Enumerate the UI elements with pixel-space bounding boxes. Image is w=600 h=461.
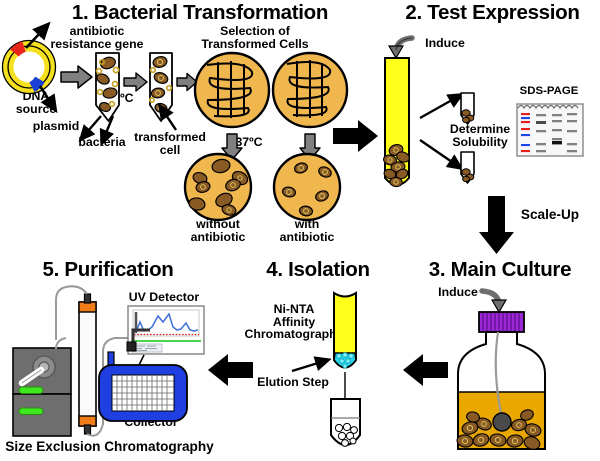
arrow-to-test-expression	[333, 120, 378, 152]
workflow-graphics	[0, 0, 600, 461]
tube-transformed-cells	[150, 53, 176, 130]
sds-page-gel	[517, 104, 583, 156]
streak-plate-right	[273, 53, 347, 127]
test-culture-tube	[383, 58, 411, 187]
ni-nta-column	[292, 293, 356, 398]
arrow-heat-shock	[124, 73, 147, 91]
tube-bacteria	[88, 53, 119, 133]
main-culture-bottle	[456, 312, 545, 451]
colony-plate-with-antibiotic	[274, 154, 340, 220]
plasmid-icon	[3, 33, 56, 100]
streak-plate-left	[195, 53, 269, 127]
solubility-tube-upper	[461, 93, 474, 124]
arrow-scale-up	[479, 196, 514, 254]
arrow-to-isolation	[403, 354, 448, 386]
arrow-induce-main	[482, 291, 506, 312]
arrow-soluble-fraction	[420, 100, 452, 118]
colony-plate-without-antibiotic	[185, 154, 251, 220]
arrow-to-purification	[208, 354, 253, 386]
arrow-plasmid-to-tube	[61, 66, 92, 88]
fplc-pump	[13, 338, 71, 436]
arrow-insoluble-fraction	[420, 140, 452, 162]
solubility-tube-lower	[461, 152, 474, 183]
arrow-induce-test	[389, 38, 412, 58]
elution-collection-tube	[331, 399, 360, 446]
